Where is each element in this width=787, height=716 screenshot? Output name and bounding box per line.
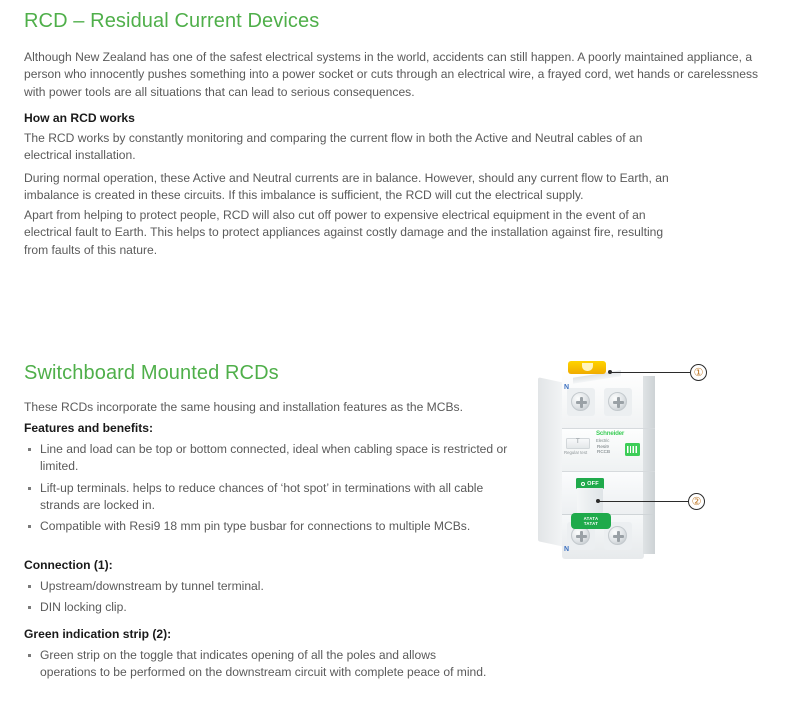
document-page: RCD – Residual Current Devices Although … <box>0 0 787 716</box>
certification-mark-icon <box>625 443 640 456</box>
power-circle-icon <box>581 482 585 486</box>
callout-1-leader-line <box>610 372 692 373</box>
callout-marker-2: ② <box>688 493 705 510</box>
switchboard-intro-paragraph: These RCDs incorporate the same housing … <box>24 399 504 416</box>
neutral-marker-top: N <box>564 384 569 391</box>
how-rcd-works-heading: How an RCD works <box>24 110 135 127</box>
list-item: DIN locking clip. <box>24 599 494 616</box>
list-item: Line and load can be top or bottom conne… <box>24 441 514 476</box>
toggle-label-line-2: TATAT <box>584 521 599 526</box>
page-title-switchboard: Switchboard Mounted RCDs <box>24 362 279 385</box>
device-seam <box>562 471 655 472</box>
device-left-face <box>538 377 564 547</box>
green-indication-list: Green strip on the toggle that indicates… <box>24 647 494 686</box>
connection-heading: Connection (1): <box>24 557 113 574</box>
neutral-marker-bottom: N <box>564 546 569 553</box>
how-rcd-works-paragraph-2: During normal operation, these Active an… <box>24 170 704 205</box>
connection-list: Upstream/downstream by tunnel terminal. … <box>24 578 494 621</box>
features-and-benefits-heading: Features and benefits: <box>24 420 153 437</box>
rcd-product-figure: N N Schneider Electric Resi9 RCCB Regula… <box>530 358 780 583</box>
list-item: Compatible with Resi9 18 mm pin type bus… <box>24 518 514 535</box>
toggle-label: ATATA TATAT <box>584 516 599 526</box>
green-indication-strip-heading: Green indication strip (2): <box>24 626 171 643</box>
features-list: Line and load can be top or bottom conne… <box>24 441 514 539</box>
list-item: Upstream/downstream by tunnel terminal. <box>24 578 494 595</box>
terminal-screw-icon <box>608 526 627 545</box>
device-model-text: Resi9 RCCB <box>597 444 610 455</box>
list-item: Green strip on the toggle that indicates… <box>24 647 494 682</box>
terminal-screw-icon <box>571 392 590 411</box>
test-button-caption: Regular test <box>564 450 587 455</box>
callout-2-leader-line <box>598 501 690 502</box>
device-right-side <box>643 376 655 554</box>
schneider-brand-label: Schneider Electric <box>596 431 642 443</box>
off-label: OFF <box>587 481 599 487</box>
callout-marker-1: ① <box>690 364 707 381</box>
green-indication-strip[interactable]: ATATA TATAT <box>571 513 611 529</box>
list-item: Lift-up terminals. helps to reduce chanc… <box>24 480 514 515</box>
test-button[interactable] <box>566 438 590 449</box>
how-rcd-works-paragraph-1: The RCD works by constantly monitoring a… <box>24 130 644 165</box>
device-seam <box>562 428 655 429</box>
how-rcd-works-paragraph-3: Apart from helping to protect people, RC… <box>24 207 684 259</box>
brand-subtitle: Electric <box>596 438 642 443</box>
page-title-rcd: RCD – Residual Current Devices <box>24 10 319 33</box>
rcd-intro-paragraph: Although New Zealand has one of the safe… <box>24 49 764 101</box>
terminal-screw-icon <box>608 392 627 411</box>
model-line-2: RCCB <box>597 449 610 454</box>
